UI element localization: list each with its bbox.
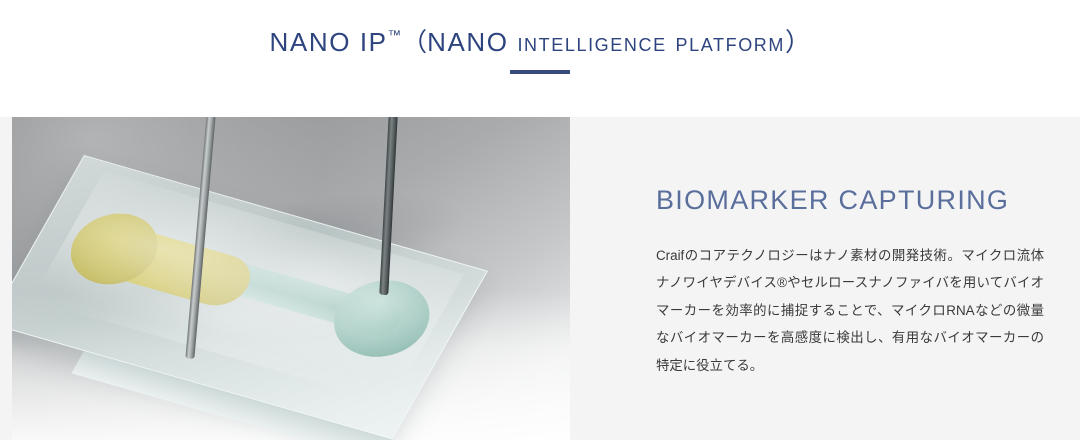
title-divider-rule <box>510 70 570 74</box>
page-title-nano: NANO <box>427 27 517 57</box>
section-heading: BIOMARKER CAPTURING <box>656 185 1009 216</box>
text-panel: BIOMARKER CAPTURING Craifのコアテクノロジーはナノ素材の… <box>570 117 1080 440</box>
paren-close: ） <box>785 29 810 57</box>
page-title-nano-ip: NANO IP <box>270 27 388 57</box>
title-block: NANO IP™（NANO Intelligence Platform） <box>0 0 1080 117</box>
chip-render-image <box>12 117 570 440</box>
paren-open: （ <box>402 29 427 57</box>
section-body-text: Craifのコアテクノロジーはナノ素材の開発技術。マイクロ流体ナノワイヤデバイス… <box>656 242 1044 379</box>
microfluidic-chip <box>84 137 524 427</box>
nano-ip-section: NANO IP™（NANO Intelligence Platform） <box>0 0 1080 440</box>
page-title-intelligence: Intelligence <box>517 27 666 57</box>
page-title-space <box>667 27 676 57</box>
page-title-platform: Platform <box>676 27 785 57</box>
trademark-symbol: ™ <box>388 28 402 43</box>
page-title: NANO IP™（NANO Intelligence Platform） <box>0 22 1080 59</box>
content-band: BIOMARKER CAPTURING Craifのコアテクノロジーはナノ素材の… <box>0 117 1080 440</box>
